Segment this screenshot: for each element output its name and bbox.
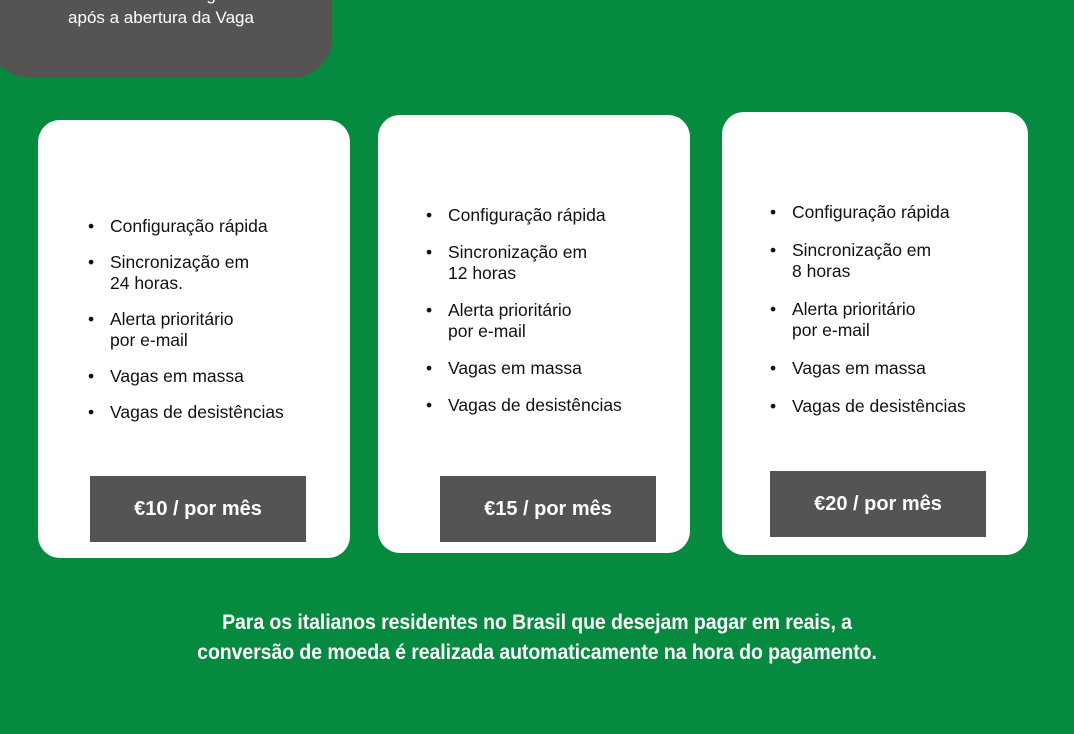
bullet-icon: • <box>426 358 432 379</box>
footer-note: Para os italianos residentes no Brasil q… <box>38 608 1037 668</box>
feature-list-intermediario: • Configuração rápida • Sincronização em… <box>426 205 688 432</box>
feature-item: • Vagas em massa <box>88 366 348 387</box>
pricing-card-header-avancado: AVANÇADO Alertas em até 3 segundos após … <box>0 0 326 77</box>
feature-label: Configuração rápida <box>792 202 1028 223</box>
feature-item: • Vagas em massa <box>770 358 1028 379</box>
feature-label: Alerta prioritário por e-mail <box>448 300 688 342</box>
feature-item: • Alerta prioritário por e-mail <box>426 300 688 342</box>
bullet-icon: • <box>770 202 776 223</box>
feature-label: Alerta prioritário por e-mail <box>792 299 1028 341</box>
bullet-icon: • <box>426 205 432 226</box>
feature-item: • Alerta prioritário por e-mail <box>770 299 1028 341</box>
feature-item: • Vagas de desistências <box>88 402 348 423</box>
price-button-simples[interactable]: €10 / por mês <box>90 476 306 542</box>
feature-label: Vagas em massa <box>448 358 688 379</box>
feature-label: Sincronização em 24 horas. <box>110 252 348 294</box>
pricing-card-avancado[interactable]: • Configuração rápida • Sincronização em… <box>722 112 1028 555</box>
pricing-table: • Configuração rápida • Sincronização em… <box>0 0 1074 734</box>
feature-item: • Configuração rápida <box>88 216 348 237</box>
bullet-icon: • <box>88 252 94 273</box>
feature-item: • Sincronização em 8 horas <box>770 240 1028 282</box>
feature-item: • Sincronização em 12 horas <box>426 242 688 284</box>
feature-item: • Configuração rápida <box>426 205 688 226</box>
bullet-icon: • <box>770 240 776 261</box>
feature-label: Vagas de desistências <box>448 395 688 416</box>
feature-label: Configuração rápida <box>448 205 688 226</box>
feature-item: • Vagas em massa <box>426 358 688 379</box>
feature-item: • Sincronização em 24 horas. <box>88 252 348 294</box>
bullet-icon: • <box>426 395 432 416</box>
feature-label: Vagas em massa <box>792 358 1028 379</box>
feature-item: • Alerta prioritário por e-mail <box>88 309 348 351</box>
feature-label: Alerta prioritário por e-mail <box>110 309 348 351</box>
bullet-icon: • <box>770 299 776 320</box>
feature-label: Vagas em massa <box>110 366 348 387</box>
price-button-avancado[interactable]: €20 / por mês <box>770 471 986 537</box>
plan-subtitle: Alertas em até 3 segundos após a abertur… <box>0 0 326 30</box>
bullet-icon: • <box>88 366 94 387</box>
bullet-icon: • <box>88 402 94 423</box>
price-button-intermediario[interactable]: €15 / por mês <box>440 476 656 542</box>
bullet-icon: • <box>88 216 94 237</box>
feature-list-avancado: • Configuração rápida • Sincronização em… <box>770 202 1028 434</box>
feature-item: • Vagas de desistências <box>770 396 1028 417</box>
feature-list-simples: • Configuração rápida • Sincronização em… <box>88 216 348 438</box>
bullet-icon: • <box>770 358 776 379</box>
feature-label: Configuração rápida <box>110 216 348 237</box>
feature-item: • Configuração rápida <box>770 202 1028 223</box>
bullet-icon: • <box>770 396 776 417</box>
pricing-card-intermediario[interactable]: • Configuração rápida • Sincronização em… <box>378 115 690 553</box>
feature-label: Sincronização em 8 horas <box>792 240 1028 282</box>
feature-item: • Vagas de desistências <box>426 395 688 416</box>
feature-label: Vagas de desistências <box>792 396 1028 417</box>
bullet-icon: • <box>426 242 432 263</box>
pricing-card-simples[interactable]: • Configuração rápida • Sincronização em… <box>38 120 350 558</box>
feature-label: Vagas de desistências <box>110 402 348 423</box>
bullet-icon: • <box>426 300 432 321</box>
feature-label: Sincronização em 12 horas <box>448 242 688 284</box>
bullet-icon: • <box>88 309 94 330</box>
